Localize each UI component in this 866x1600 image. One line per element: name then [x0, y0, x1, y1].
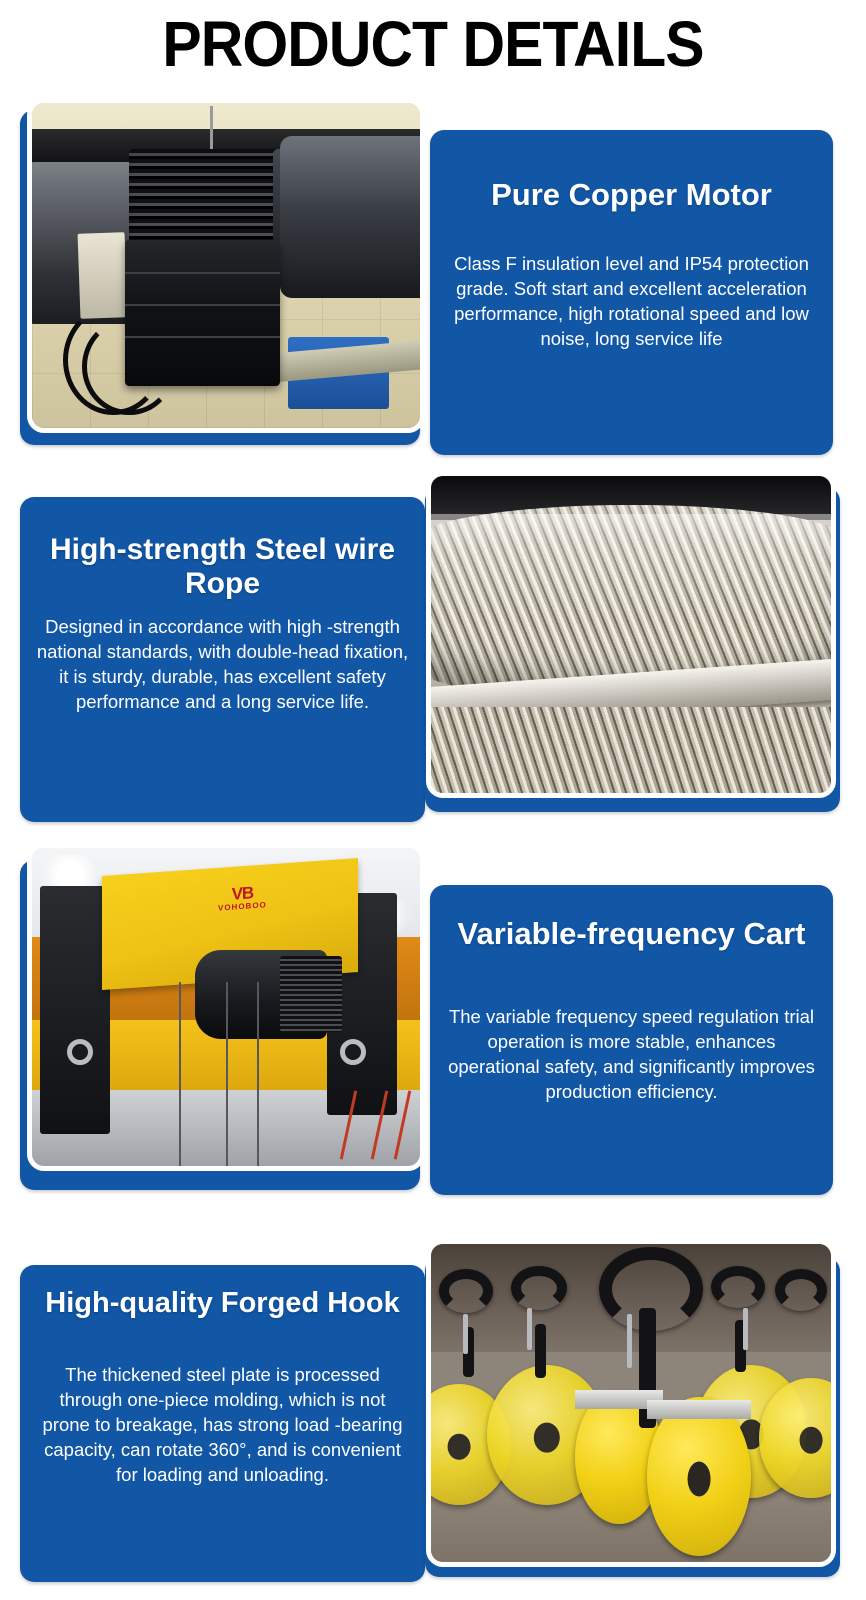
steel-wire-rope-photo	[431, 476, 831, 793]
hoist-brand-logo: VB VOHOBOO	[218, 884, 267, 913]
motor-photo-art	[32, 103, 420, 428]
hook-photo-art	[431, 1244, 831, 1562]
forged-hook-photo	[431, 1244, 831, 1562]
feature-text-panel: Pure Copper Motor Class F insulation lev…	[430, 130, 833, 455]
feature-text-panel: High-strength Steel wire Rope Designed i…	[20, 497, 425, 822]
feature-body: The variable frequency speed regulation …	[446, 1005, 817, 1105]
page-title: PRODUCT DETAILS	[35, 8, 832, 80]
feature-title: High-strength Steel wire Rope	[34, 533, 411, 600]
feature-body: Class F insulation level and IP54 protec…	[446, 252, 817, 352]
feature-photo-card	[20, 110, 420, 445]
hoist-photo-art: VB VOHOBOO	[32, 848, 420, 1166]
feature-body: The thickened steel plate is processed t…	[36, 1363, 409, 1488]
feature-body: Designed in accordance with high -streng…	[36, 615, 409, 715]
feature-title: Pure Copper Motor	[444, 178, 819, 213]
pure-copper-motor-photo	[32, 103, 420, 428]
feature-text-panel: Variable-frequency Cart The variable fre…	[430, 885, 833, 1195]
feature-title: Variable-frequency Cart	[444, 917, 819, 952]
feature-photo-card: VB VOHOBOO	[20, 860, 420, 1190]
feature-title: High-quality Forged Hook	[34, 1287, 411, 1319]
product-details-page: PRODUCT DETAILS Pure Copper Motor Class …	[0, 0, 866, 1600]
feature-photo-card	[425, 1257, 840, 1577]
wire-rope-photo-art	[431, 476, 831, 793]
variable-frequency-cart-photo: VB VOHOBOO	[32, 848, 420, 1166]
feature-text-panel: High-quality Forged Hook The thickened s…	[20, 1265, 425, 1582]
feature-photo-card	[425, 487, 840, 812]
